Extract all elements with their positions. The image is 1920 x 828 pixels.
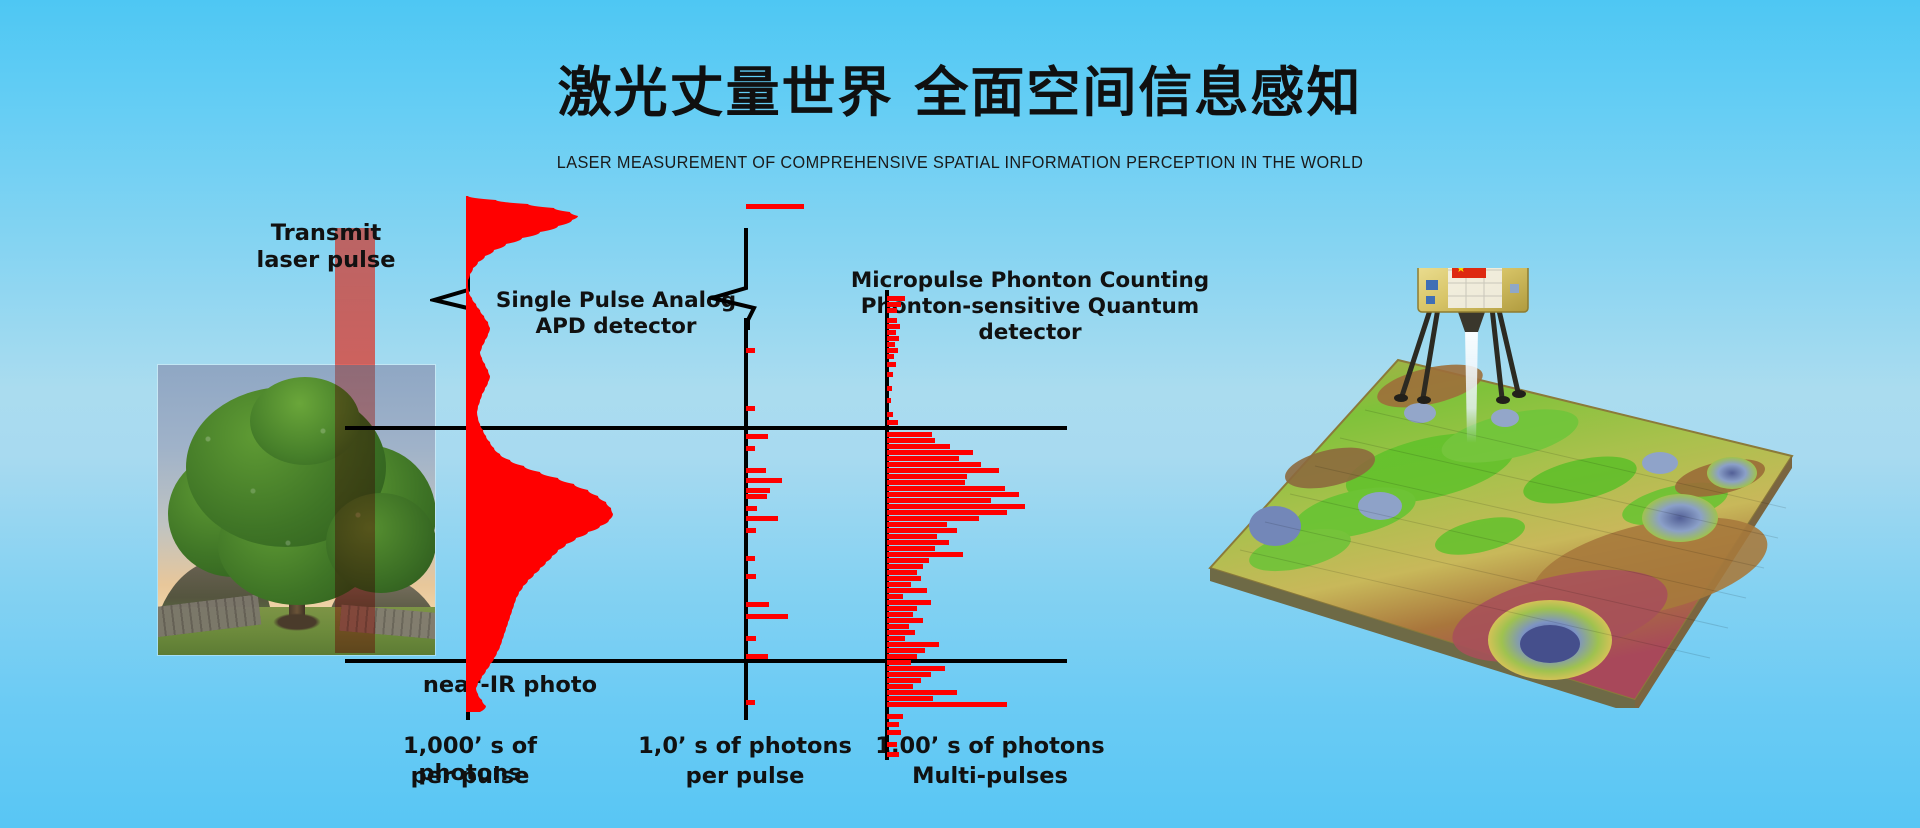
photon-count-bar <box>887 516 979 521</box>
photon-count-bar <box>746 700 755 705</box>
photon-count-bar <box>887 582 911 587</box>
photon-count-bar <box>887 474 967 479</box>
terrain-svg: ★ <box>1180 268 1820 708</box>
photon-count-bar <box>746 468 766 473</box>
photon-count-bar <box>887 438 935 443</box>
photon-count-bar <box>887 696 933 701</box>
photon-count-bar <box>887 564 923 569</box>
photon-count-bar <box>746 494 767 499</box>
photon-count-bar <box>887 612 913 617</box>
photon-count-bar <box>887 690 957 695</box>
photon-count-bar <box>746 478 782 483</box>
photon-count-bar <box>887 594 903 599</box>
photon-count-bar <box>887 444 950 449</box>
engine-plume <box>1465 328 1478 443</box>
photon-count-bar <box>887 348 898 353</box>
photon-count-bar <box>887 648 925 653</box>
photon-count-bar <box>887 540 949 545</box>
photon-count-bar <box>887 456 959 461</box>
photon-count-bar <box>887 642 939 647</box>
photon-count-bar <box>887 534 937 539</box>
photon-count-bar <box>887 510 1007 515</box>
photon-count-bar <box>887 432 932 437</box>
photon-count-bar <box>746 654 768 659</box>
photon-count-bar <box>887 342 895 347</box>
photon-count-bar <box>887 752 899 757</box>
photon-count-bar <box>746 602 769 607</box>
photon-count-bar <box>887 546 935 551</box>
micropulse-photon-counting-waveform <box>887 190 1107 790</box>
photon-count-bar <box>887 672 931 677</box>
photon-count-bar <box>887 660 911 665</box>
lander-nozzle <box>1458 312 1485 332</box>
photon-count-bar <box>746 488 770 493</box>
photon-count-bar <box>887 450 973 455</box>
photon-count-bar <box>887 372 893 377</box>
infographic-canvas: 激光丈量世界 全面空间信息感知 LASER MEASUREMENT OF COM… <box>0 0 1920 828</box>
terrain-visualization: ★ <box>1180 268 1820 708</box>
photon-count-bar <box>746 528 756 533</box>
single-pulse-analog-waveform <box>466 190 676 730</box>
photon-count-bar <box>746 516 778 521</box>
photon-count-bar <box>887 354 894 359</box>
photon-count-bar <box>887 330 896 335</box>
photon-count-bar <box>746 446 755 451</box>
photon-count-bar <box>887 486 1005 491</box>
photon-count-bar <box>887 308 897 313</box>
photon-count-bar <box>887 702 1007 707</box>
photon-count-bar <box>887 630 915 635</box>
photon-count-bar <box>887 588 927 593</box>
photon-count-bar <box>887 412 893 417</box>
photon-count-bar <box>746 348 755 353</box>
photon-count-bar <box>887 528 957 533</box>
photon-count-bar <box>887 492 1019 497</box>
photon-count-bar <box>887 498 991 503</box>
photon-count-bar <box>887 362 896 367</box>
photon-count-bar <box>746 204 804 209</box>
terrain-surface <box>1210 356 1792 708</box>
photon-count-bar <box>887 624 909 629</box>
photon-count-bar <box>887 296 905 301</box>
photon-count-bar <box>887 558 929 563</box>
photon-count-bar <box>887 576 921 581</box>
photon-count-bar <box>887 600 931 605</box>
transmit-laser-pulse-label: Transmit laser pulse <box>236 220 416 275</box>
photon-count-bar <box>887 730 901 735</box>
photon-count-bar <box>887 722 899 727</box>
photon-count-bar <box>887 666 945 671</box>
photon-count-bar <box>887 324 900 329</box>
photon-count-bar <box>887 742 897 747</box>
page-title: 激光丈量世界 全面空间信息感知 <box>0 48 1920 127</box>
photon-count-bar <box>887 398 891 403</box>
laser-beam-column <box>335 228 375 653</box>
panel1-footer-line2: per pulse <box>355 763 585 790</box>
photon-count-bar <box>887 504 1025 509</box>
photon-count-bar <box>887 480 965 485</box>
photon-count-bar <box>746 506 757 511</box>
photon-count-bar <box>887 302 901 307</box>
photon-count-bar <box>887 420 898 425</box>
photon-count-bar <box>887 618 923 623</box>
photon-count-bar <box>887 386 892 391</box>
near-ir-photo-image <box>158 365 435 655</box>
panel2-footer-line1: 1,0’ s of photons <box>630 733 860 760</box>
photon-count-bar <box>887 462 981 467</box>
photon-count-bar <box>887 336 899 341</box>
panel2-footer-line2: per pulse <box>630 763 860 790</box>
photon-count-bar <box>746 556 755 561</box>
photon-count-bar <box>887 714 903 719</box>
photon-count-bar <box>887 654 917 659</box>
photon-count-bar <box>887 678 921 683</box>
photon-count-bar <box>746 636 756 641</box>
photon-count-bar <box>887 522 947 527</box>
photon-count-bar <box>887 684 913 689</box>
photon-count-bar <box>746 574 756 579</box>
svg-text:★: ★ <box>1456 268 1466 275</box>
photon-count-bar <box>746 406 755 411</box>
photon-count-bar <box>887 636 905 641</box>
photon-count-bar <box>887 552 963 557</box>
few-photon-counting-waveform <box>746 190 906 730</box>
photon-count-bar <box>887 468 999 473</box>
photon-count-bar <box>887 570 917 575</box>
photon-count-bar <box>887 606 917 611</box>
photon-count-bar <box>887 318 897 323</box>
photon-count-bar <box>746 434 768 439</box>
photon-count-bar <box>746 614 788 619</box>
page-subtitle: LASER MEASUREMENT OF COMPREHENSIVE SPATI… <box>67 152 1853 173</box>
